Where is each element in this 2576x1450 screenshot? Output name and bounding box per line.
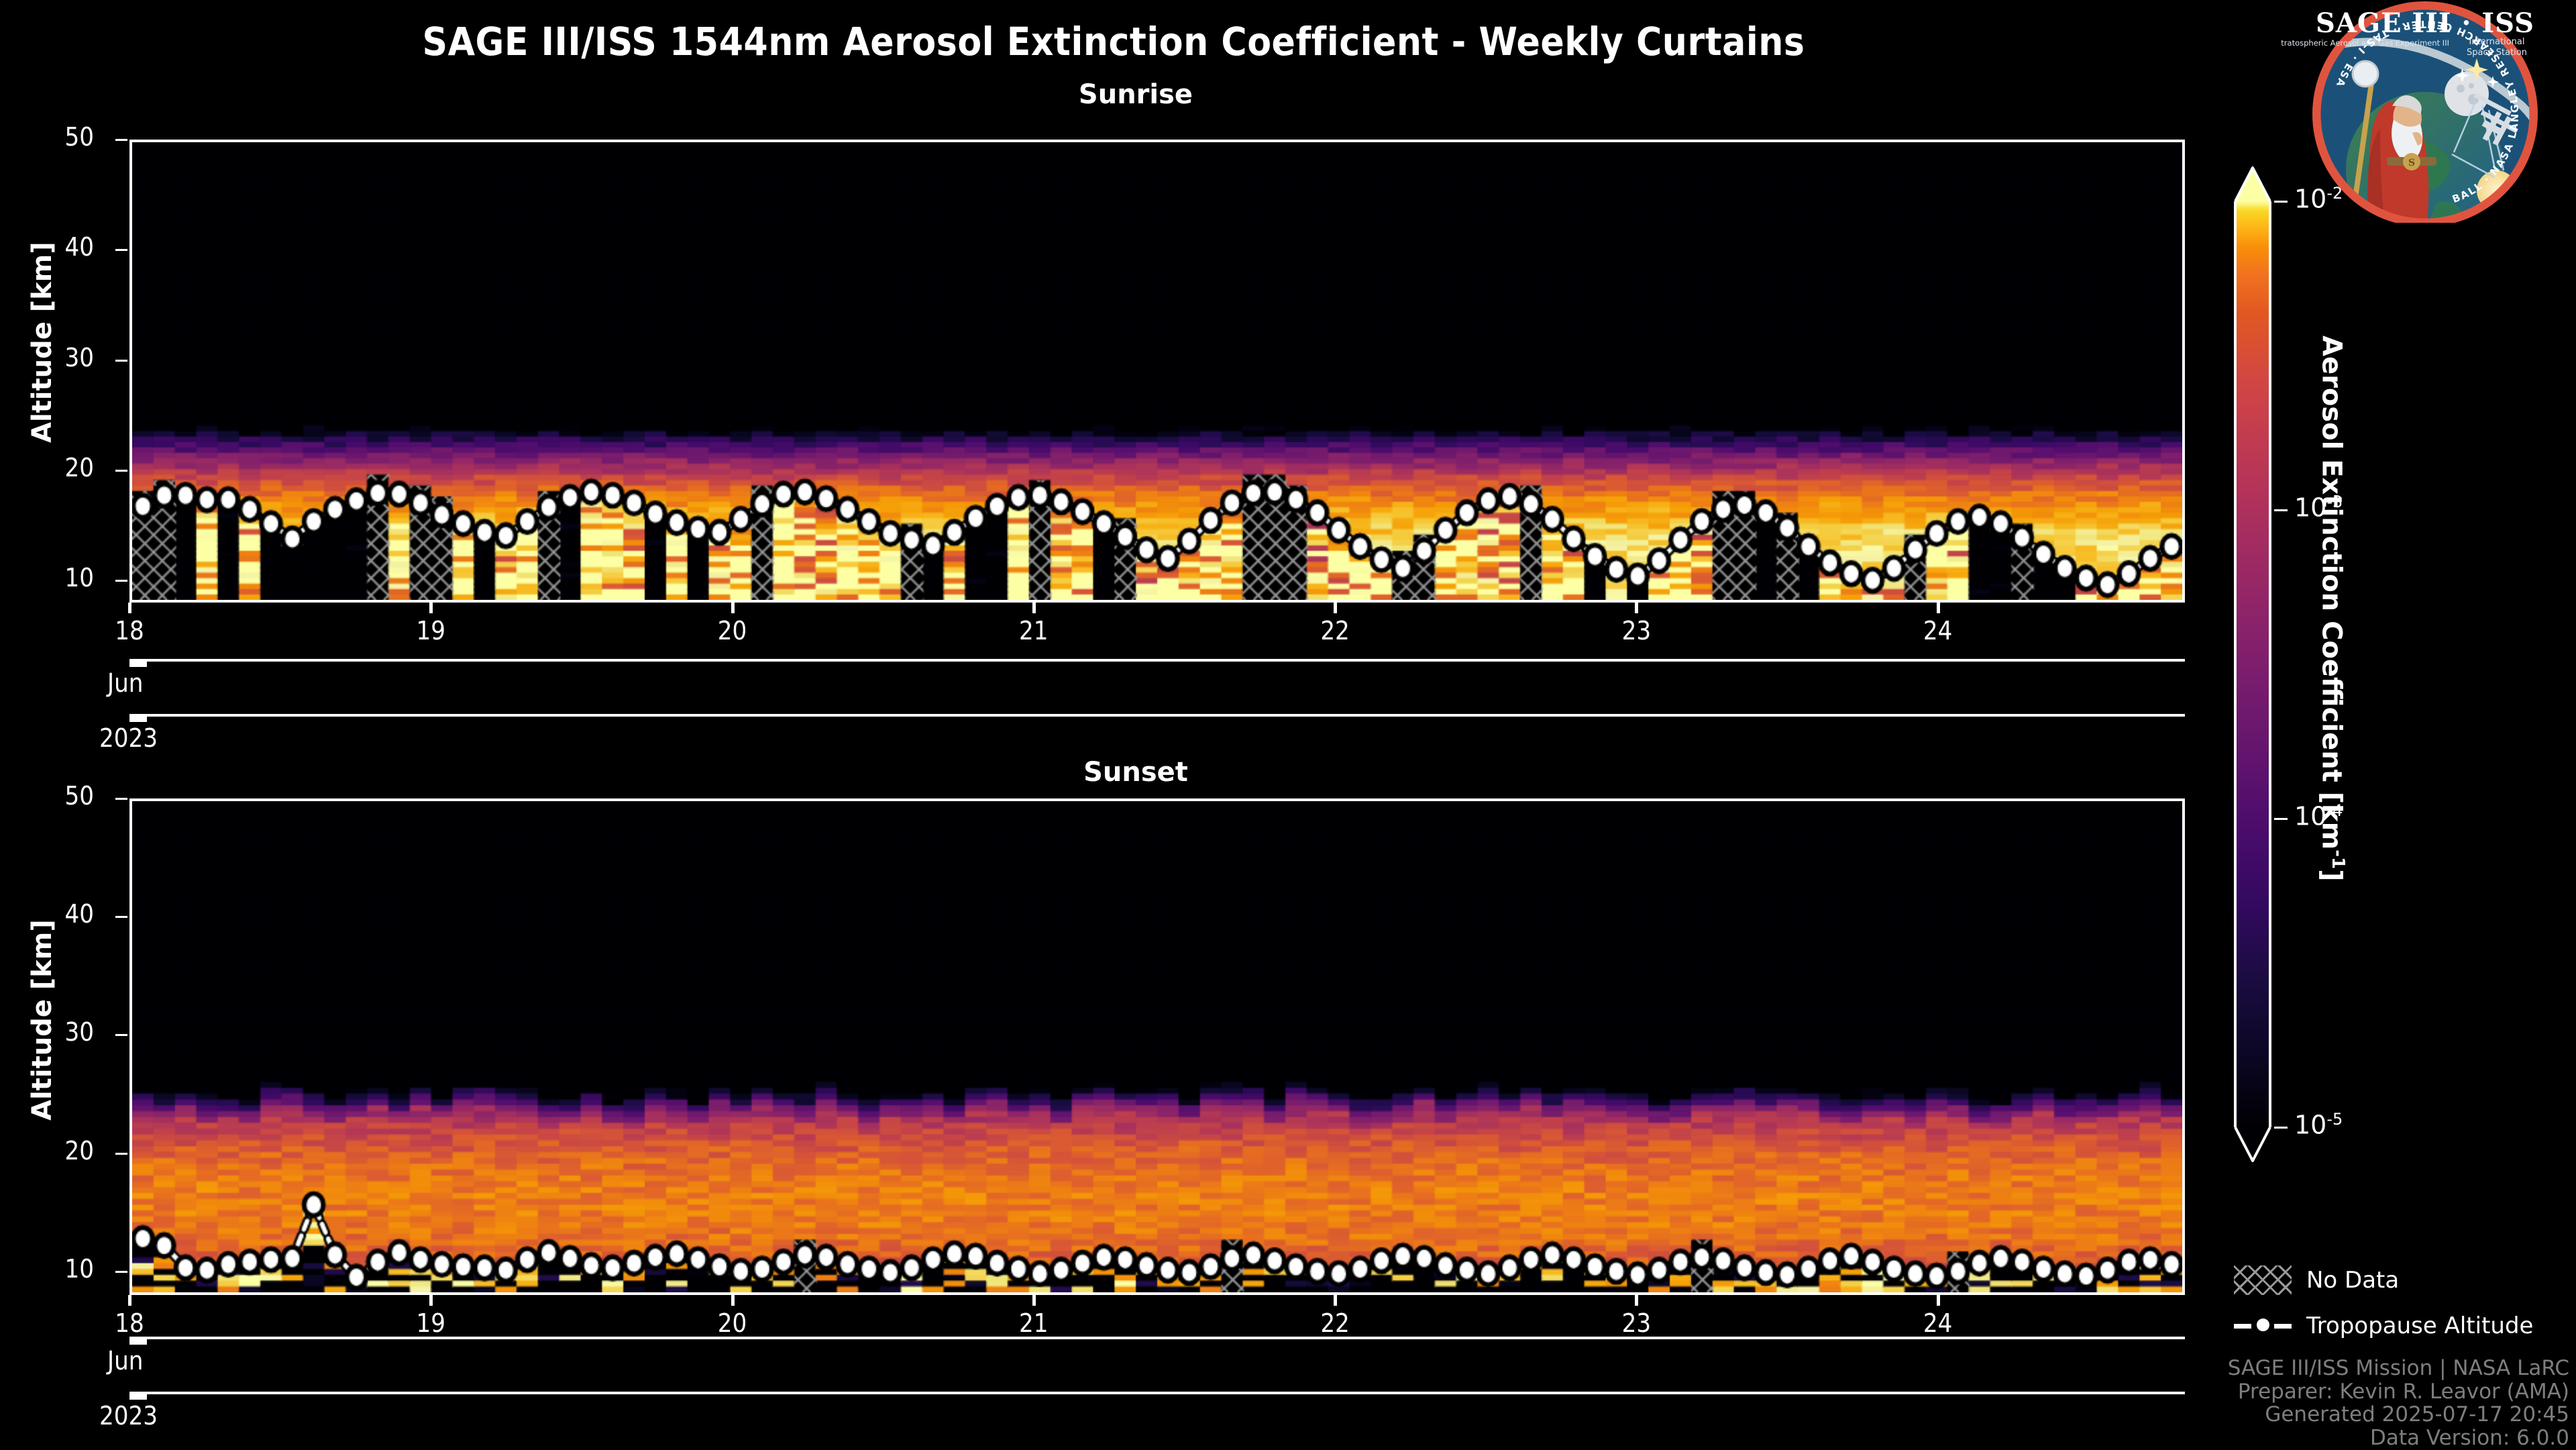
x-tick-label: 22 [1281,1308,1389,1338]
y-tick-mark [115,139,127,141]
x-tick-label: 20 [679,1308,786,1338]
legend: No Data Tropopause Altitude [2234,1261,2569,1353]
y-tick-label: 10 [0,563,94,592]
x-tick-label: 19 [377,616,484,645]
x-tick-mark [128,603,131,613]
footer-line-preparer: Preparer: Kevin R. Leavor (AMA) [1905,1380,2569,1404]
sage-iii-iss-mission-patch-logo: S SAGE III · ISS Stratospheric Aerosol a… [2281,1,2569,223]
x-tick-label: 24 [1884,1308,1992,1338]
y-tick-label: 20 [0,1136,94,1166]
sunrise-year-label: 2023 [99,723,158,753]
sunrise-year-band [129,714,2185,717]
sunrise-plot-area[interactable] [129,140,2185,603]
y-tick-mark [115,798,127,800]
x-tick-label: 18 [76,616,183,645]
colorbar-extend-max-arrow [2234,166,2271,201]
y-tick-mark [115,580,127,582]
x-tick-label: 21 [980,1308,1087,1338]
x-tick-mark [128,1295,131,1306]
sunset-heatmap [132,801,2182,1292]
y-tick-label: 40 [0,899,94,929]
y-tick-label: 30 [0,343,94,372]
colorbar-tick-mark [2274,509,2288,511]
x-tick-label: 19 [377,1308,484,1338]
footer-line-mission: SAGE III/ISS Mission | NASA LaRC [1905,1357,2569,1380]
colorbar-tick-mark [2274,1127,2288,1129]
footer-line-version: Data Version: 6.0.0 [1905,1427,2569,1450]
tropopause-marker-icon [2234,1311,2292,1341]
sunset-year-band [129,1392,2185,1394]
y-tick-label: 40 [0,232,94,262]
x-tick-mark [1635,1295,1638,1306]
y-tick-label: 10 [0,1254,94,1284]
sunrise-year-band-tick [129,714,147,722]
svg-text:S: S [2408,158,2415,168]
y-tick-label: 30 [0,1017,94,1047]
sunrise-month-label: Jun [107,668,143,698]
y-tick-label: 50 [0,122,94,152]
x-tick-label: 24 [1884,616,1992,645]
x-tick-mark [1032,1295,1036,1306]
colorbar-tick-mark [2274,818,2288,820]
x-tick-label: 23 [1582,1308,1690,1338]
colorbar[interactable] [2234,201,2271,1127]
x-tick-mark [429,603,433,613]
x-tick-label: 23 [1582,616,1690,645]
sunset-month-band [129,1337,2185,1339]
y-tick-mark [115,1271,127,1273]
legend-label-no-data: No Data [2306,1267,2399,1294]
sunset-year-label: 2023 [99,1401,158,1431]
y-tick-label: 50 [0,781,94,811]
sunrise-month-band [129,659,2185,662]
legend-item-tropopause[interactable]: Tropopause Altitude [2234,1307,2569,1345]
x-tick-mark [1334,1295,1337,1306]
y-tick-mark [115,360,127,362]
x-tick-mark [429,1295,433,1306]
colorbar-extend-min-arrow [2234,1127,2271,1162]
y-tick-mark [115,1034,127,1036]
x-tick-label: 20 [679,616,786,645]
sunset-month-label: Jun [107,1346,143,1376]
x-tick-mark [731,1295,735,1306]
x-tick-mark [1937,603,1940,613]
sunset-panel-title: Sunset [800,757,1471,788]
x-tick-mark [1635,603,1638,613]
colorbar-tick-label: 10-5 [2294,1110,2343,1140]
legend-label-tropopause: Tropopause Altitude [2306,1312,2533,1339]
footer-line-generated: Generated 2025-07-17 20:45 [1905,1403,2569,1427]
y-tick-label: 20 [0,453,94,482]
sunrise-month-band-tick [129,659,147,667]
sunset-month-band-tick [129,1337,147,1345]
footer-credits: SAGE III/ISS Mission | NASA LaRC Prepare… [1905,1357,2569,1450]
y-tick-mark [115,916,127,918]
x-tick-label: 18 [76,1308,183,1338]
y-tick-mark [115,249,127,251]
no-data-hatch-icon [2234,1265,2292,1295]
colorbar-gradient [2234,201,2271,1127]
x-tick-mark [1334,603,1337,613]
x-tick-mark [1937,1295,1940,1306]
sunset-plot-area[interactable] [129,798,2185,1295]
sunrise-heatmap [132,142,2182,600]
x-tick-mark [1032,603,1036,613]
y-tick-mark [115,470,127,472]
x-tick-label: 21 [980,616,1087,645]
page-title: SAGE III/ISS 1544nm Aerosol Extinction C… [0,19,2227,64]
y-tick-mark [115,1153,127,1155]
sunrise-panel-title: Sunrise [800,79,1471,110]
colorbar-axis-label: Aerosol Extinction Coefficient [km-1] [2316,335,2348,881]
x-tick-mark [731,603,735,613]
sunset-year-band-tick [129,1392,147,1400]
x-tick-label: 22 [1281,616,1389,645]
legend-item-no-data[interactable]: No Data [2234,1261,2569,1299]
